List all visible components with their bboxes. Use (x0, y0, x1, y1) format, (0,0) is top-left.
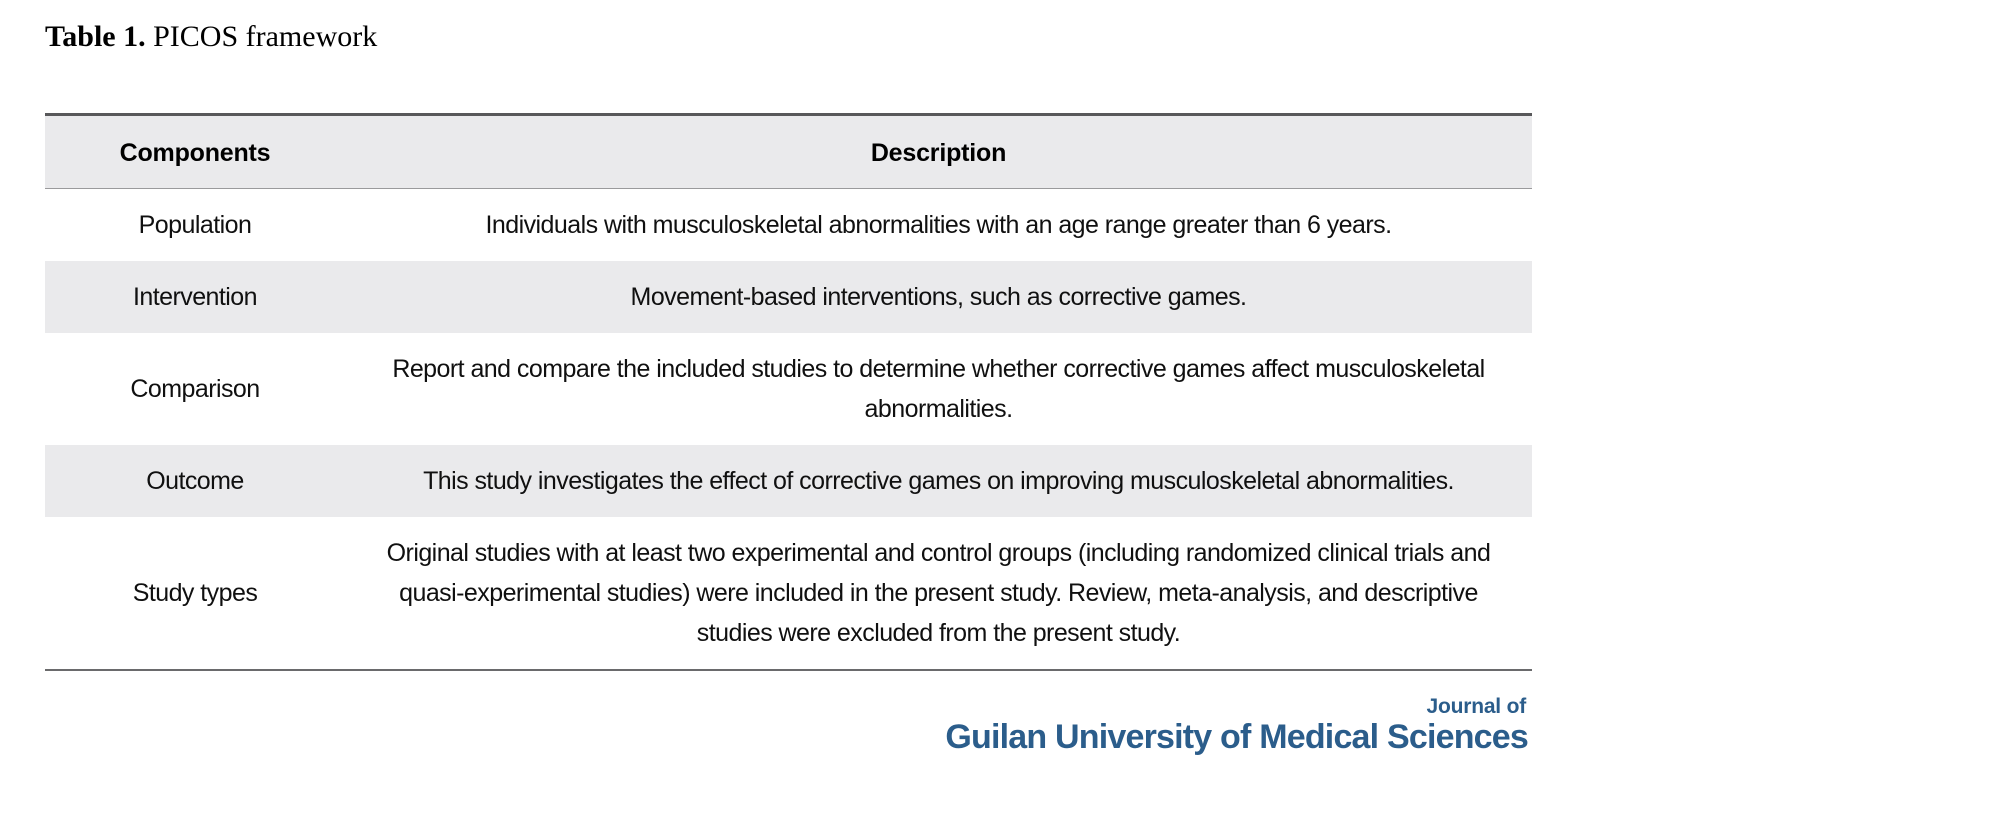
cell-component-outcome: Outcome (45, 445, 345, 517)
table-header-row: Components Description (45, 115, 1532, 189)
table-page: Table 1. PICOS framework Components Desc… (0, 0, 2000, 825)
cell-description-outcome: This study investigates the effect of co… (345, 445, 1532, 517)
cell-description-population: Individuals with musculoskeletal abnorma… (345, 189, 1532, 262)
table-caption: Table 1. PICOS framework (45, 18, 377, 56)
cell-component-comparison: Comparison (45, 333, 345, 445)
journal-logo-line1: Journal of (945, 696, 1526, 717)
table-body: Population Individuals with musculoskele… (45, 189, 1532, 671)
picos-table: Components Description Population Indivi… (45, 113, 1532, 671)
cell-description-study-types: Original studies with at least two exper… (345, 517, 1532, 670)
column-header-components: Components (45, 115, 345, 189)
cell-component-study-types: Study types (45, 517, 345, 670)
journal-logo-line2: Guilan University of Medical Sciences (945, 720, 1528, 754)
journal-logo: Journal of Guilan University of Medical … (945, 696, 1528, 754)
table-row: Intervention Movement-based intervention… (45, 261, 1532, 333)
table-row: Comparison Report and compare the includ… (45, 333, 1532, 445)
table-row: Outcome This study investigates the effe… (45, 445, 1532, 517)
cell-description-intervention: Movement-based interventions, such as co… (345, 261, 1532, 333)
cell-component-population: Population (45, 189, 345, 262)
picos-table-wrapper: Components Description Population Indivi… (45, 113, 1532, 671)
table-header: Components Description (45, 115, 1532, 189)
table-caption-label: Table 1. (45, 20, 146, 53)
table-row: Population Individuals with musculoskele… (45, 189, 1532, 262)
cell-description-comparison: Report and compare the included studies … (345, 333, 1532, 445)
table-caption-text: PICOS framework (146, 20, 378, 53)
cell-component-intervention: Intervention (45, 261, 345, 333)
table-row: Study types Original studies with at lea… (45, 517, 1532, 670)
column-header-description: Description (345, 115, 1532, 189)
